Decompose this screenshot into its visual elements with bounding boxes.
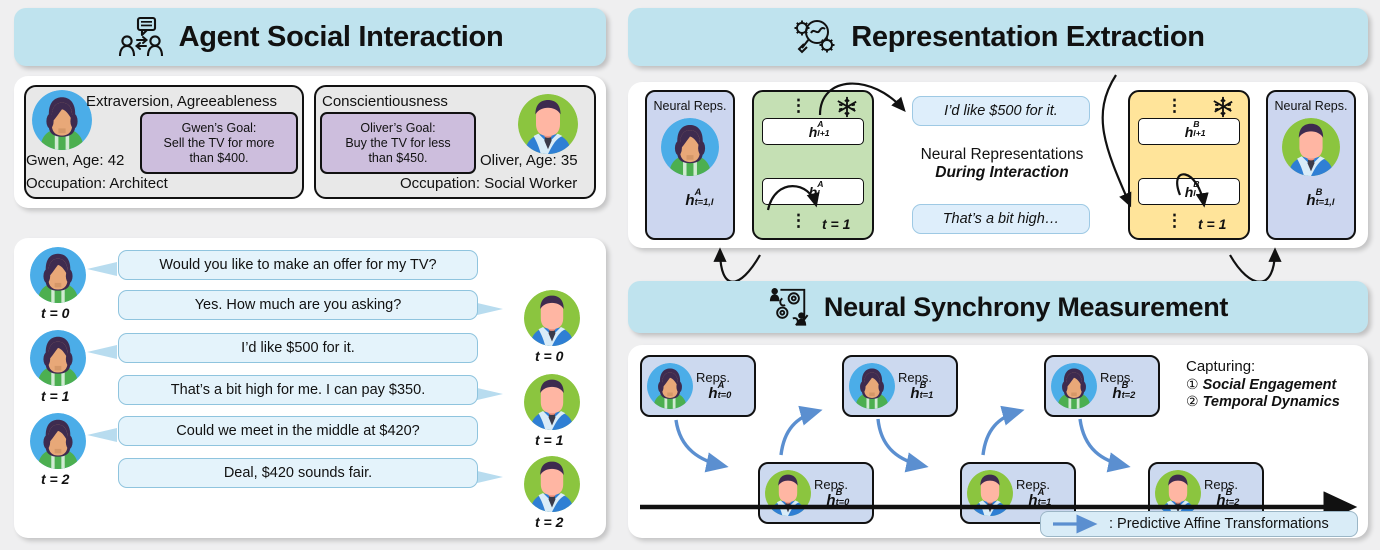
dialogue-time-label-left-2: t = 2 [41, 471, 69, 487]
node-math-4: hBt=2 [1112, 385, 1121, 402]
goal-line1-oliver: Buy the TV for less [345, 136, 450, 151]
dialogue-avatar-oliver-t0 [524, 290, 580, 346]
avatar-gwen-node0 [647, 363, 693, 409]
banner-title: Neural Synchrony Measurement [824, 292, 1228, 323]
neural-reps-math-a: hAt=1,l [685, 192, 694, 209]
bubble-tail-2 [87, 345, 117, 359]
figure-root: Agent Social Interaction Extraversion, A… [0, 0, 1380, 550]
neural-reps-title-a: Neural Reps. [654, 99, 727, 113]
dialogue-time-label-left-1: t = 1 [41, 388, 69, 404]
dialogue-avatar-gwen-t0 [30, 247, 86, 303]
node-reps-label-0: Reps. [696, 370, 730, 385]
banner-representation-extraction: Representation Extraction [628, 8, 1368, 66]
extraction-caption-line1: Neural Representations [906, 146, 1098, 164]
dialogue-avatar-oliver-t2 [524, 456, 580, 512]
capturing-list: Capturing: ① Social Engagement ② Tempora… [1186, 358, 1340, 410]
node-reps-label-5: Reps. [1204, 477, 1238, 492]
node-reps-label-1: Reps. [814, 477, 848, 492]
avatar-gwen-node4 [1051, 363, 1097, 409]
dialogue-time-label-left-0: t = 0 [41, 305, 69, 321]
layer-dots-a-top: ⋮ [790, 97, 807, 114]
synchrony-node-0: Reps. hAt=0 [640, 355, 756, 417]
timestep-label-b: t = 1 [1198, 216, 1226, 232]
dialogue-bubble-4[interactable]: Could we meet in the middle at $420? [118, 416, 478, 446]
banner-agent-social-interaction: Agent Social Interaction [14, 8, 606, 66]
bubble-tail-4 [87, 428, 117, 442]
timestep-label-a: t = 1 [822, 216, 850, 232]
node-reps-label-2: Reps. [898, 370, 932, 385]
node-math-0: hAt=0 [708, 385, 717, 402]
node-reps-label-4: Reps. [1100, 370, 1134, 385]
banner-neural-synchrony: Neural Synchrony Measurement [628, 281, 1368, 333]
neural-reps-box-a: Neural Reps. hAt=1,l [645, 90, 735, 240]
synchrony-node-4: Reps. hBt=2 [1044, 355, 1160, 417]
banner-title: Agent Social Interaction [179, 21, 504, 54]
legend-arrow-icon [1051, 518, 1103, 530]
capturing-item-1: ② Temporal Dynamics [1186, 393, 1340, 410]
dialogue-avatar-oliver-t1 [524, 374, 580, 430]
dialogue-bubble-2[interactable]: I’d like $500 for it. [118, 333, 478, 363]
extraction-bubble-bottom: That’s a bit high… [912, 204, 1090, 234]
avatar-gwen [32, 90, 92, 150]
persona-occupation-gwen: Occupation: Architect [26, 175, 168, 192]
dialogue-bubble-1[interactable]: Yes. How much are you asking? [118, 290, 478, 320]
layer-box-a-lplus1: hAl+1 [762, 118, 864, 145]
capturing-item-0: ① Social Engagement [1186, 376, 1340, 393]
capturing-label-1: Temporal Dynamics [1203, 394, 1340, 410]
extraction-caption: Neural Representations During Interactio… [906, 146, 1098, 182]
avatar-oliver-reps [1282, 118, 1340, 176]
avatar-gwen-reps [661, 118, 719, 176]
capturing-label-0: Social Engagement [1203, 377, 1337, 393]
goal-title-gwen: Gwen’s Goal: [182, 121, 257, 136]
layer-dots-b-top: ⋮ [1166, 97, 1183, 114]
banner-title: Representation Extraction [851, 21, 1204, 54]
persona-name-oliver: Oliver, Age: 35 [480, 152, 578, 169]
bubble-tail-0 [87, 262, 117, 276]
neural-reps-box-b: Neural Reps. hBt=1,l [1266, 90, 1356, 240]
goal-line2-gwen: than $400. [189, 151, 248, 166]
dialogue-bubble-5[interactable]: Deal, $420 sounds fair. [118, 458, 478, 488]
avatar-gwen-node2 [849, 363, 895, 409]
legend-predictive-affine: : Predictive Affine Transformations [1040, 511, 1358, 537]
persona-traits-gwen: Extraversion, Agreeableness [86, 93, 277, 110]
layer-dots-b-bottom: ⋮ [1166, 212, 1183, 229]
avatar-oliver [518, 94, 578, 154]
dialogue-avatar-gwen-t2 [30, 413, 86, 469]
neural-reps-math-b: hBt=1,l [1306, 192, 1315, 209]
goal-title-oliver: Oliver’s Goal: [360, 121, 435, 136]
dialogue-bubble-0[interactable]: Would you like to make an offer for my T… [118, 250, 478, 280]
layer-box-b-lplus1: hBl+1 [1138, 118, 1240, 145]
legend-label: : Predictive Affine Transformations [1109, 516, 1329, 532]
neural-synchrony-icon [768, 286, 810, 328]
extraction-caption-line2: During Interaction [906, 164, 1098, 182]
agent-social-interaction-icon [117, 16, 165, 58]
dialogue-avatar-gwen-t1 [30, 330, 86, 386]
persona-traits-oliver: Conscientiousness [322, 93, 448, 110]
persona-name-gwen: Gwen, Age: 42 [26, 152, 124, 169]
goal-line1-gwen: Sell the TV for more [164, 136, 275, 151]
snowflake-icon-a [836, 96, 858, 118]
dialogue-time-label-right-1: t = 1 [535, 432, 563, 448]
snowflake-icon-b [1212, 96, 1234, 118]
goal-box-oliver: Oliver’s Goal: Buy the TV for less than … [320, 112, 476, 174]
capturing-heading: Capturing: [1186, 358, 1340, 375]
layer-dots-a-bottom: ⋮ [790, 212, 807, 229]
persona-occupation-oliver: Occupation: Social Worker [400, 175, 577, 192]
extraction-bubble-top: I’d like $500 for it. [912, 96, 1090, 126]
dialogue-time-label-right-0: t = 0 [535, 348, 563, 364]
layer-box-a-l: hAl [762, 178, 864, 205]
synchrony-node-2: Reps. hBt=1 [842, 355, 958, 417]
capturing-num-1: ② [1186, 393, 1199, 410]
representation-extraction-icon [791, 15, 837, 59]
node-reps-label-3: Reps. [1016, 477, 1050, 492]
layer-box-b-l: hBl [1138, 178, 1240, 205]
goal-line2-oliver: than $450. [368, 151, 427, 166]
neural-reps-title-b: Neural Reps. [1275, 99, 1348, 113]
capturing-num-0: ① [1186, 376, 1199, 393]
dialogue-bubble-3[interactable]: That’s a bit high for me. I can pay $350… [118, 375, 478, 405]
node-math-2: hBt=1 [910, 385, 919, 402]
dialogue-time-label-right-2: t = 2 [535, 514, 563, 530]
goal-box-gwen: Gwen’s Goal: Sell the TV for more than $… [140, 112, 298, 174]
